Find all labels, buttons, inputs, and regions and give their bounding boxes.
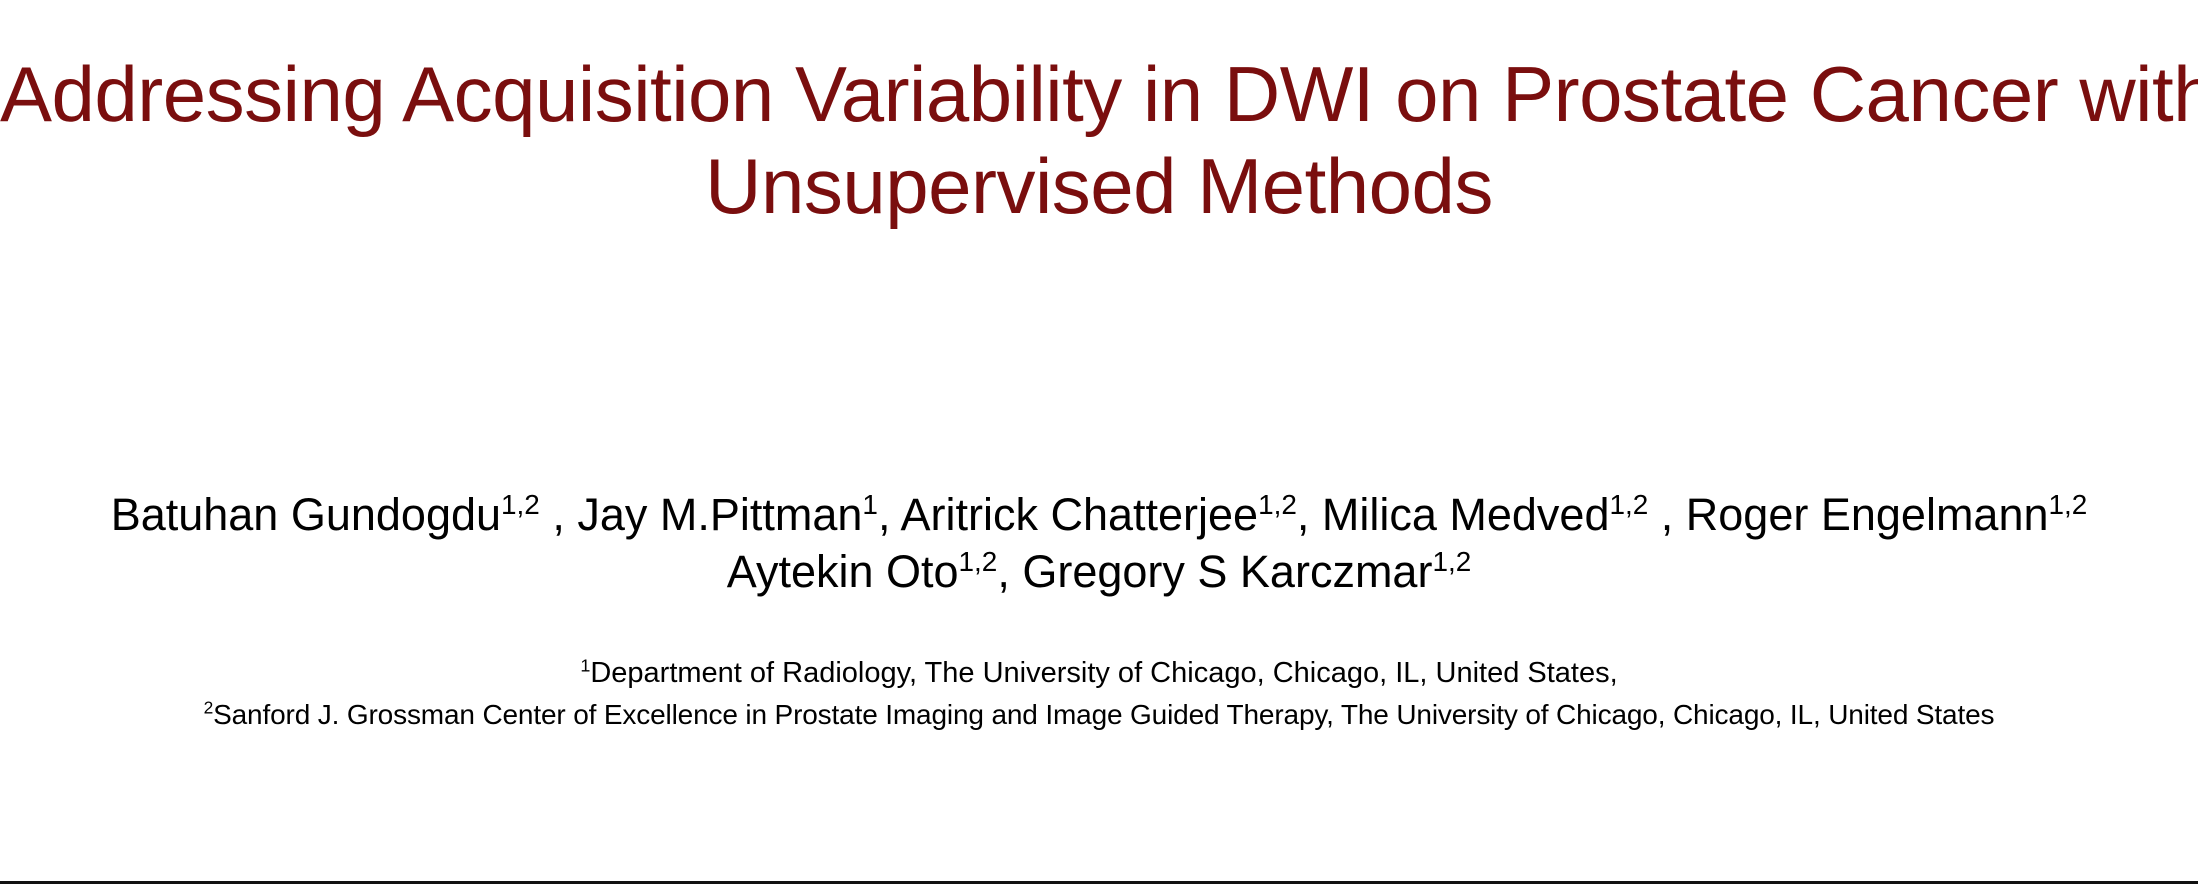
slide-title: Addressing Acquisition Variability in DW…	[0, 48, 2198, 232]
author-affiliation-mark: 1,2	[501, 489, 540, 520]
author-line-1: Batuhan Gundogdu1,2 , Jay M.Pittman1, Ar…	[0, 486, 2198, 543]
author-affiliation-mark: 1,2	[1432, 546, 1471, 577]
author-name: Milica Medved	[1322, 489, 1610, 540]
affiliation-text: Sanford J. Grossman Center of Excellence…	[213, 699, 1994, 730]
author-name: Gregory S Karczmar	[1022, 546, 1432, 597]
author-separator: ,	[878, 489, 901, 540]
author-separator: ,	[540, 489, 578, 540]
author-separator: ,	[997, 546, 1022, 597]
affiliation-mark: 1	[580, 655, 590, 675]
author-list: Batuhan Gundogdu1,2 , Jay M.Pittman1, Ar…	[0, 486, 2198, 600]
author-affiliation-mark: 1,2	[1258, 489, 1297, 520]
author-name: Batuhan Gundogdu	[111, 489, 501, 540]
title-line-1: Addressing Acquisition Variability in DW…	[0, 48, 2198, 140]
author-name: Roger Engelmann	[1686, 489, 2049, 540]
affiliation-mark: 2	[204, 698, 214, 718]
author-affiliation-mark: 1,2	[1609, 489, 1648, 520]
author-line-2: Aytekin Oto1,2, Gregory S Karczmar1,2	[0, 543, 2198, 600]
author-separator: ,	[1648, 489, 1686, 540]
title-slide: Addressing Acquisition Variability in DW…	[0, 0, 2198, 884]
title-line-2: Unsupervised Methods	[0, 140, 2198, 232]
author-name: Aytekin Oto	[727, 546, 959, 597]
author-name: Aritrick Chatterjee	[900, 489, 1258, 540]
affiliation-item-1: 1Department of Radiology, The University…	[0, 652, 2198, 694]
author-affiliation-mark: 1	[862, 489, 878, 520]
affiliation-list: 1Department of Radiology, The University…	[0, 652, 2198, 736]
author-separator: ,	[1297, 489, 1322, 540]
author-affiliation-mark: 1,2	[2049, 489, 2088, 520]
affiliation-item-2: 2Sanford J. Grossman Center of Excellenc…	[0, 694, 2198, 736]
affiliation-text: Department of Radiology, The University …	[590, 657, 1617, 689]
author-affiliation-mark: 1,2	[959, 546, 998, 577]
author-name: Jay M.Pittman	[577, 489, 862, 540]
